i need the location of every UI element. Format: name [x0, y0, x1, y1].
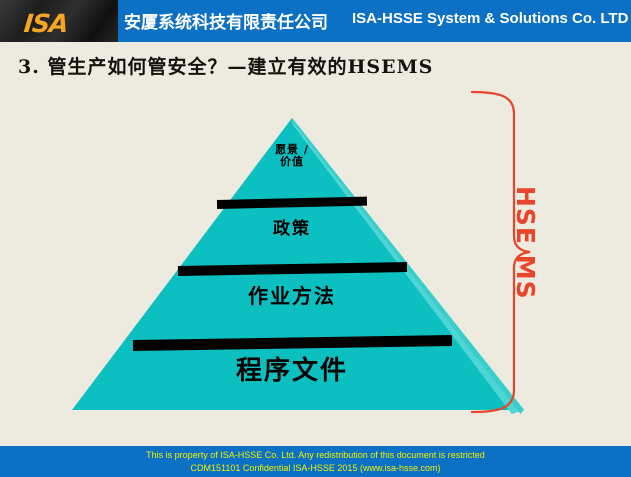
company-name-zh: 安厦系统科技有限责任公司 [124, 8, 328, 33]
pyramid-level-policy: 政策 [212, 221, 372, 239]
footer-line-2: CDM151101 Confidential ISA-HSSE 2015 (ww… [0, 462, 631, 475]
pyramid-diagram: 愿景 / 价值 政策 作业方法 程序文件 [72, 118, 524, 414]
pyramid-level-methods: 作业方法 [172, 286, 412, 307]
pyramid-level-documents: 程序文件 [142, 358, 442, 385]
logo-plate: ISA [0, 0, 118, 42]
slide-title: 3. 管生产如何管安全？—建立有效的HSEMS [18, 52, 433, 79]
footer-bar: This is property of ISA-HSSE Co. Ltd. An… [0, 446, 631, 477]
isa-logo-icon: ISA [22, 9, 69, 38]
header-bar: ISA 安厦系统科技有限责任公司 ISA-HSSE System & Solut… [0, 0, 631, 42]
pyramid-level-vision: 愿景 / 价值 [222, 144, 362, 167]
company-name-en: ISA-HSSE System & Solutions Co. LTD [352, 10, 628, 27]
footer-line-1: This is property of ISA-HSSE Co. Ltd. An… [0, 449, 631, 462]
hse-ms-label: HSE MS [511, 186, 540, 326]
slide-canvas: ISA 安厦系统科技有限责任公司 ISA-HSSE System & Solut… [0, 0, 631, 477]
